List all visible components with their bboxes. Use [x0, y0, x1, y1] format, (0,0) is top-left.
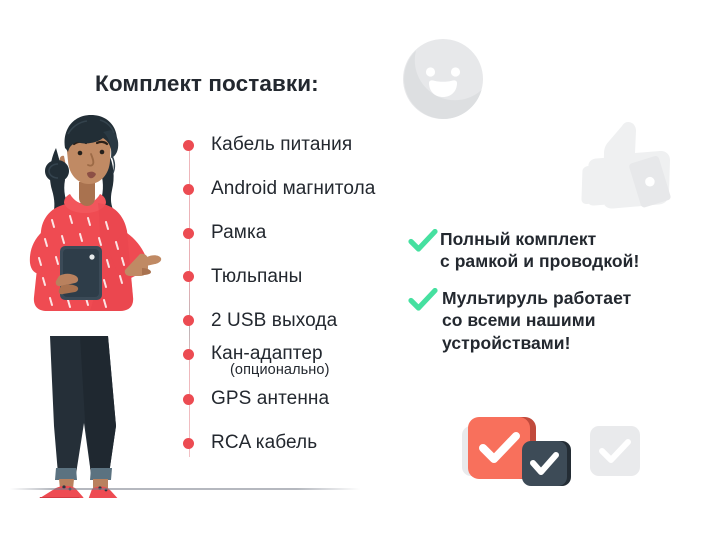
list-item: Android магнитола [178, 178, 478, 200]
woman-pointing-with-tablet-illustration [12, 108, 172, 498]
callout-text: Полный комплект с рамкой и проводкой! [440, 228, 639, 273]
check-icon [408, 229, 438, 255]
list-item-label: Рамка [211, 222, 266, 244]
bullet-dot-icon [183, 438, 194, 449]
list-item-label: 2 USB выхода [211, 310, 337, 332]
bullet-dot-icon [183, 140, 194, 151]
list-item: GPS антенна [178, 388, 478, 410]
page-title: Комплект поставки: [95, 71, 319, 97]
bullet-dot-icon [183, 394, 194, 405]
bullet-dot-icon [183, 228, 194, 239]
avito-watermark-text: Avito [634, 501, 686, 524]
list-item-label: Кабель питания [211, 134, 352, 156]
callout-line-3: устройствами! [442, 333, 570, 353]
list-item-label: RCA кабель [211, 432, 317, 454]
checkbox-card-navy [522, 441, 567, 486]
bullet-dot-icon [183, 349, 194, 360]
check-icon [408, 288, 438, 314]
checkbox-cards-decoration [462, 414, 630, 486]
list-item-sublabel: (опционально) [230, 362, 330, 378]
list-item-label: GPS антенна [211, 388, 329, 410]
smiley-face-icon [402, 38, 484, 120]
ground-line [10, 488, 360, 490]
bullet-dot-icon [183, 315, 194, 326]
thumbs-up-icon [572, 118, 684, 222]
list-item: Кабель питания [178, 134, 478, 156]
avito-watermark: Avito [608, 496, 708, 526]
list-item-label: Тюльпаны [211, 266, 302, 288]
callout-line-2: с рамкой и проводкой! [440, 251, 639, 271]
checkbox-card-gray-right [590, 426, 640, 476]
bullet-dot-icon [183, 271, 194, 282]
callout-line-2: со всеми нашими [442, 310, 596, 330]
callout-text: Мультируль работает со всеми нашими устр… [442, 287, 631, 354]
list-item-label: Android магнитола [211, 178, 375, 200]
list-item: RCA кабель [178, 432, 478, 454]
callout-item: Мультируль работает со всеми нашими устр… [408, 287, 708, 354]
callout-line-1: Мультируль работает [442, 288, 631, 308]
bullet-dot-icon [183, 184, 194, 195]
benefits-callouts: Полный комплект с рамкой и проводкой! Му… [408, 228, 708, 368]
promo-image-canvas: Комплект поставки: [0, 0, 720, 540]
checkbox-card-coral [468, 417, 530, 479]
callout-line-1: Полный комплект [440, 229, 596, 249]
callout-item: Полный комплект с рамкой и проводкой! [408, 228, 708, 273]
